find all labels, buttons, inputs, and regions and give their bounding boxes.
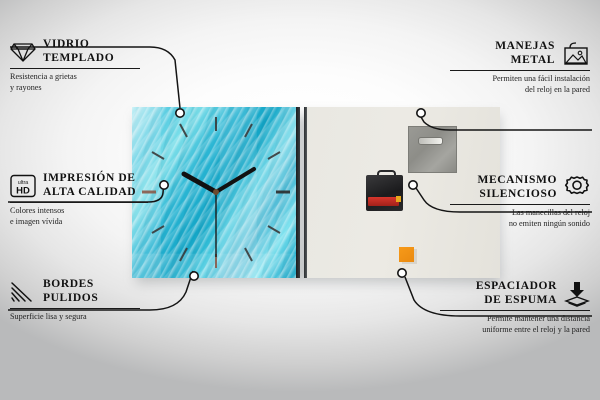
foam-spacer-pad [399,247,414,262]
callout-head: BORDES PULIDOS [10,278,150,305]
callout-head: VIDRIO TEMPLADO [10,38,150,65]
diamond-icon [10,41,36,63]
callout-desc: Colores intensos e imagen vívida [10,206,158,227]
callout-title: VIDRIO TEMPLADO [43,38,114,65]
callout-espaciador-espuma: ESPACIADOR DE ESPUMA Permite mantener un… [440,280,590,335]
callout-rule [450,204,590,205]
callout-rule [10,308,140,309]
ultra-hd-icon: ultra HD [10,174,36,198]
picture-hanger-icon [562,42,590,66]
svg-text:HD: HD [16,185,30,196]
callout-rule [10,202,148,203]
product-image [132,107,500,279]
callout-desc: Las manecillas del reloj no emiten ningú… [450,208,590,229]
callout-rule [10,68,140,69]
callout-title: BORDES PULIDOS [43,278,98,305]
back-panel-edge [304,107,307,278]
callout-desc: Resistencia a grietas y rayones [10,72,150,93]
callout-head: MANEJAS METAL [450,40,590,67]
clock-mechanism [366,170,403,211]
callout-head: MECANISMO SILENCIOSO [450,174,590,201]
callout-rule [440,310,590,311]
callout-manejas-metal: MANEJAS METAL Permiten una fácil instala… [450,40,590,95]
callout-vidrio-templado: VIDRIO TEMPLADO Resistencia a grietas y … [10,38,150,93]
callout-title: MANEJAS METAL [495,40,555,67]
callout-bordes-pulidos: BORDES PULIDOS Superficie lisa y segura [10,278,150,323]
polished-edges-icon [10,281,36,303]
product-infographic: VIDRIO TEMPLADO Resistencia a grietas y … [0,0,600,400]
callout-title: ESPACIADOR DE ESPUMA [476,280,557,307]
callout-desc: Permiten una fácil instalación del reloj… [450,74,590,95]
callout-desc: Superficie lisa y segura [10,312,150,323]
battery-terminal [396,196,401,202]
battery [368,197,399,206]
hanger-slot [418,137,443,145]
callout-title: MECANISMO SILENCIOSO [477,174,557,201]
callout-impresion-alta-calidad: ultra HD IMPRESIÓN DE ALTA CALIDAD Color… [10,172,158,227]
callout-head: ultra HD IMPRESIÓN DE ALTA CALIDAD [10,172,158,199]
metal-hanger-plate [408,126,457,173]
foam-spacer-icon [564,281,590,307]
callout-head: ESPACIADOR DE ESPUMA [440,280,590,307]
callout-title: IMPRESIÓN DE ALTA CALIDAD [43,172,136,199]
callout-desc: Permite mantener una distancia uniforme … [440,314,590,335]
callout-rule [450,70,590,71]
clock-edge [296,107,300,278]
callout-mecanismo-silencioso: MECANISMO SILENCIOSO Las manecillas del … [450,174,590,229]
gear-icon [564,175,590,200]
